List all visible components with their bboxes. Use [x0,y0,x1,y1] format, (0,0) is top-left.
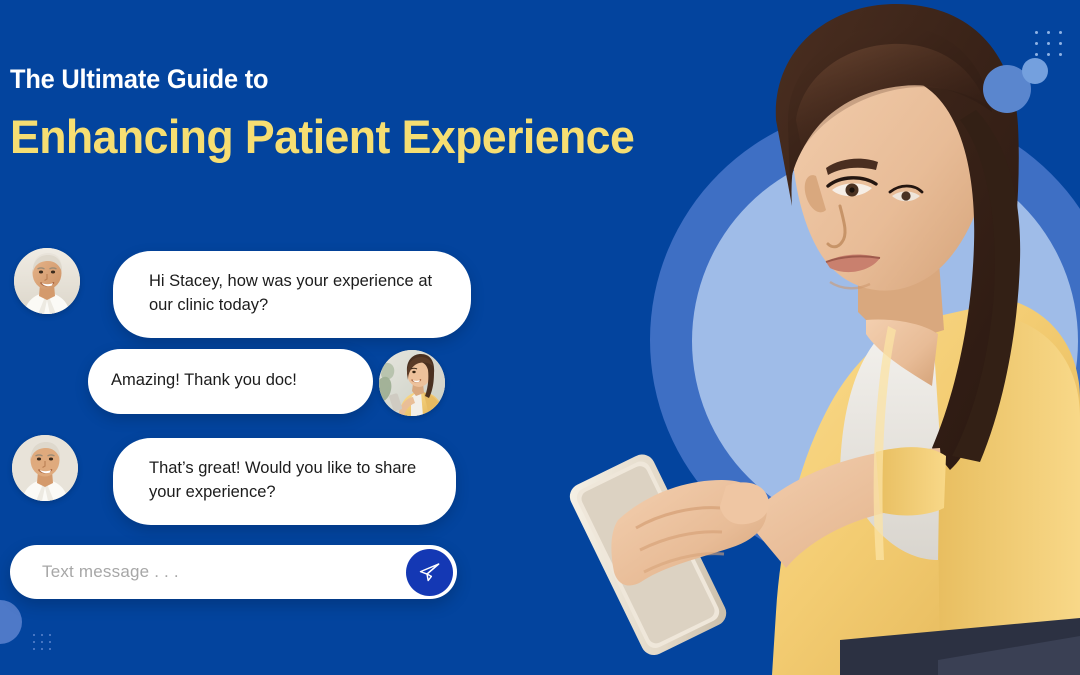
chat-bubble-3: That’s great! Would you like to share yo… [113,438,456,525]
chat-message-row-2: Amazing! Thank you doc! [88,349,445,416]
send-paper-plane-icon [418,561,441,584]
headline-block: The Ultimate Guide to Enhancing Patient … [10,66,667,160]
promo-banner: The Ultimate Guide to Enhancing Patient … [0,0,1080,675]
eyebrow-text: The Ultimate Guide to [10,66,628,93]
send-button[interactable] [406,549,453,596]
chat-bubble-1: Hi Stacey, how was your experience at ou… [113,251,471,338]
chat-message-row-1: Hi Stacey, how was your experience at ou… [14,248,471,338]
message-input[interactable]: Text message . . . [10,562,406,582]
chat-bubble-2: Amazing! Thank you doc! [88,349,373,414]
doctor-avatar-2 [12,435,78,501]
message-composer[interactable]: Text message . . . [10,545,457,599]
patient-avatar [379,350,445,416]
circle-decoration-left-edge [0,600,22,644]
doctor-avatar [14,248,80,314]
dot-grid-icon-bottom-left [33,634,51,650]
chat-message-row-3: That’s great! Would you like to share yo… [12,435,456,525]
page-title: Enhancing Patient Experience [10,113,634,160]
